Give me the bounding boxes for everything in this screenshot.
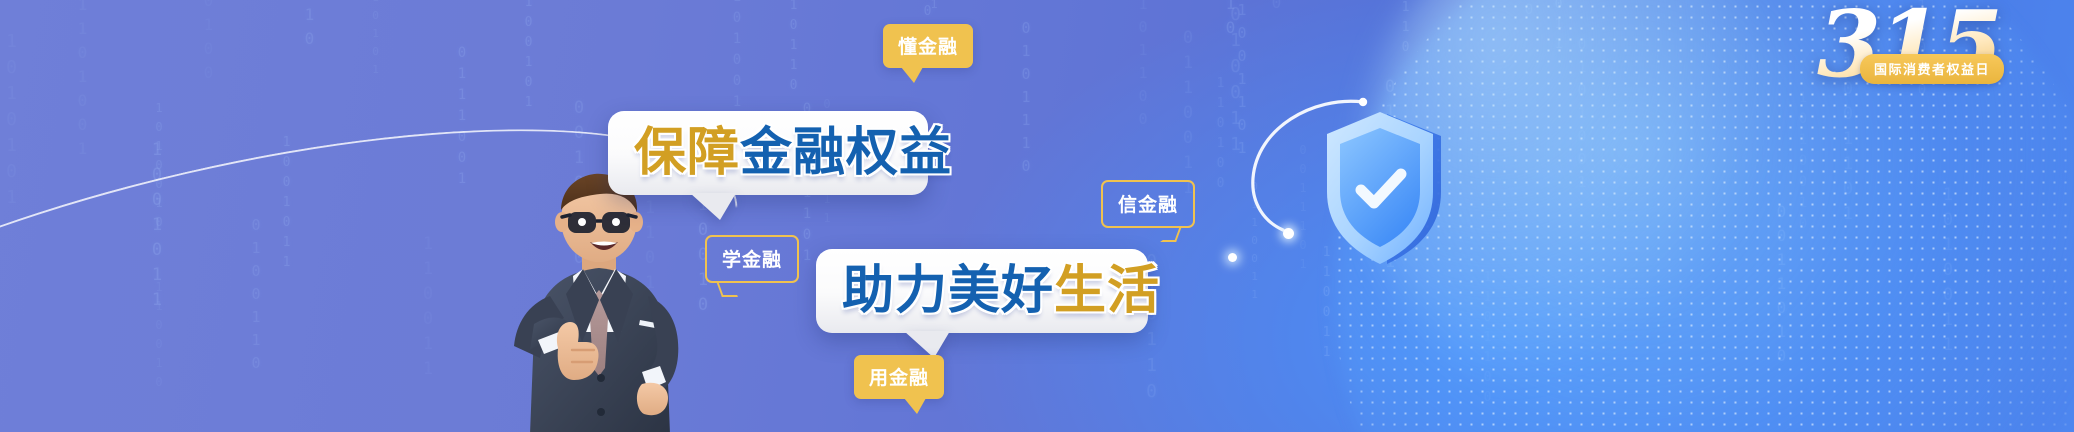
- binary-column: 1001101: [1234, 1, 1249, 162]
- headline-secondary-blue: 助力美好: [842, 261, 1054, 321]
- headline-primary-blue: 金融权益: [740, 123, 952, 183]
- tag-xuejinrong: 学金融: [705, 235, 799, 283]
- tag-tail: [901, 67, 923, 83]
- binary-column: 0110110: [1222, 0, 1238, 42]
- tag-xuejinrong-label: 学金融: [722, 249, 782, 271]
- tag-dongjinrong: 懂金融: [883, 24, 973, 68]
- binary-column: 0101001: [1574, 35, 1589, 196]
- tag-tail: [904, 398, 926, 414]
- binary-column: 0110011: [1179, 28, 1196, 203]
- binary-column: 0101100: [1135, 0, 1150, 133]
- binary-column: 1100101: [522, 0, 535, 115]
- headline-primary: 保障金融权益: [634, 125, 952, 181]
- tag-tail: [1160, 226, 1182, 242]
- binary-column: 1101100: [1481, 270, 1494, 410]
- binary-column: 010110: [787, 0, 800, 98]
- tag-dongjinrong-label: 懂金融: [898, 36, 958, 58]
- binary-column: 10010110: [1399, 0, 1412, 60]
- headline-primary-gold: 保障: [634, 123, 740, 183]
- bubble-tail: [690, 193, 736, 220]
- tag-xinjinrong-label: 信金融: [1118, 194, 1178, 216]
- binary-column: 0110101: [370, 0, 381, 81]
- headline-secondary-gold: 生活: [1054, 261, 1160, 321]
- binary-column: 1010010: [1796, 90, 1810, 237]
- binary-column: 1010110: [1268, 0, 1284, 17]
- headline-bubble-secondary: 助力美好生活: [816, 249, 1148, 333]
- binary-column: 1101001: [730, 0, 744, 115]
- shield-check-icon: [1317, 108, 1443, 268]
- binary-column: 0101100: [1522, 0, 1536, 23]
- binary-column: 1010011: [1226, 0, 1244, 160]
- consumer-rights-day-label: 国际消费者权益日: [1860, 54, 2004, 84]
- binary-column: 10010110: [301, 0, 317, 53]
- binary-column: 0011101: [1297, 143, 1309, 276]
- binary-column: 1010011: [1939, 185, 1956, 360]
- arc-end-dot: [1283, 228, 1294, 239]
- binary-column: 1010101: [2, 31, 20, 213]
- binary-column: 110100: [1214, 76, 1227, 196]
- binary-column: 110100: [200, 0, 216, 87]
- binary-column: 1011001: [928, 0, 940, 16]
- marketing-banner: 1010011010011011100100110101100101101011…: [0, 0, 2074, 432]
- binary-column: 1101001: [74, 0, 90, 163]
- 315-logo: 315 国际消费者权益日: [1758, 0, 2008, 108]
- binary-column: 0011010: [1773, 202, 1789, 370]
- orbit-node-dot: [1228, 253, 1237, 262]
- binary-column: 0101110: [1018, 19, 1033, 180]
- headline-bubble-primary: 保障金融权益: [608, 111, 928, 195]
- tag-xinjinrong: 信金融: [1101, 180, 1195, 228]
- headline-secondary: 助力美好生活: [842, 263, 1160, 319]
- tag-tail: [716, 281, 738, 297]
- tag-yongjinrong: 用金融: [854, 355, 944, 399]
- bubble-tail: [904, 331, 950, 358]
- binary-column: 0110011: [1249, 180, 1260, 306]
- tag-yongjinrong-label: 用金融: [869, 367, 929, 389]
- businessman-thumbs-up-illustration: [490, 172, 710, 432]
- binary-column: 0101011: [1552, 0, 1565, 57]
